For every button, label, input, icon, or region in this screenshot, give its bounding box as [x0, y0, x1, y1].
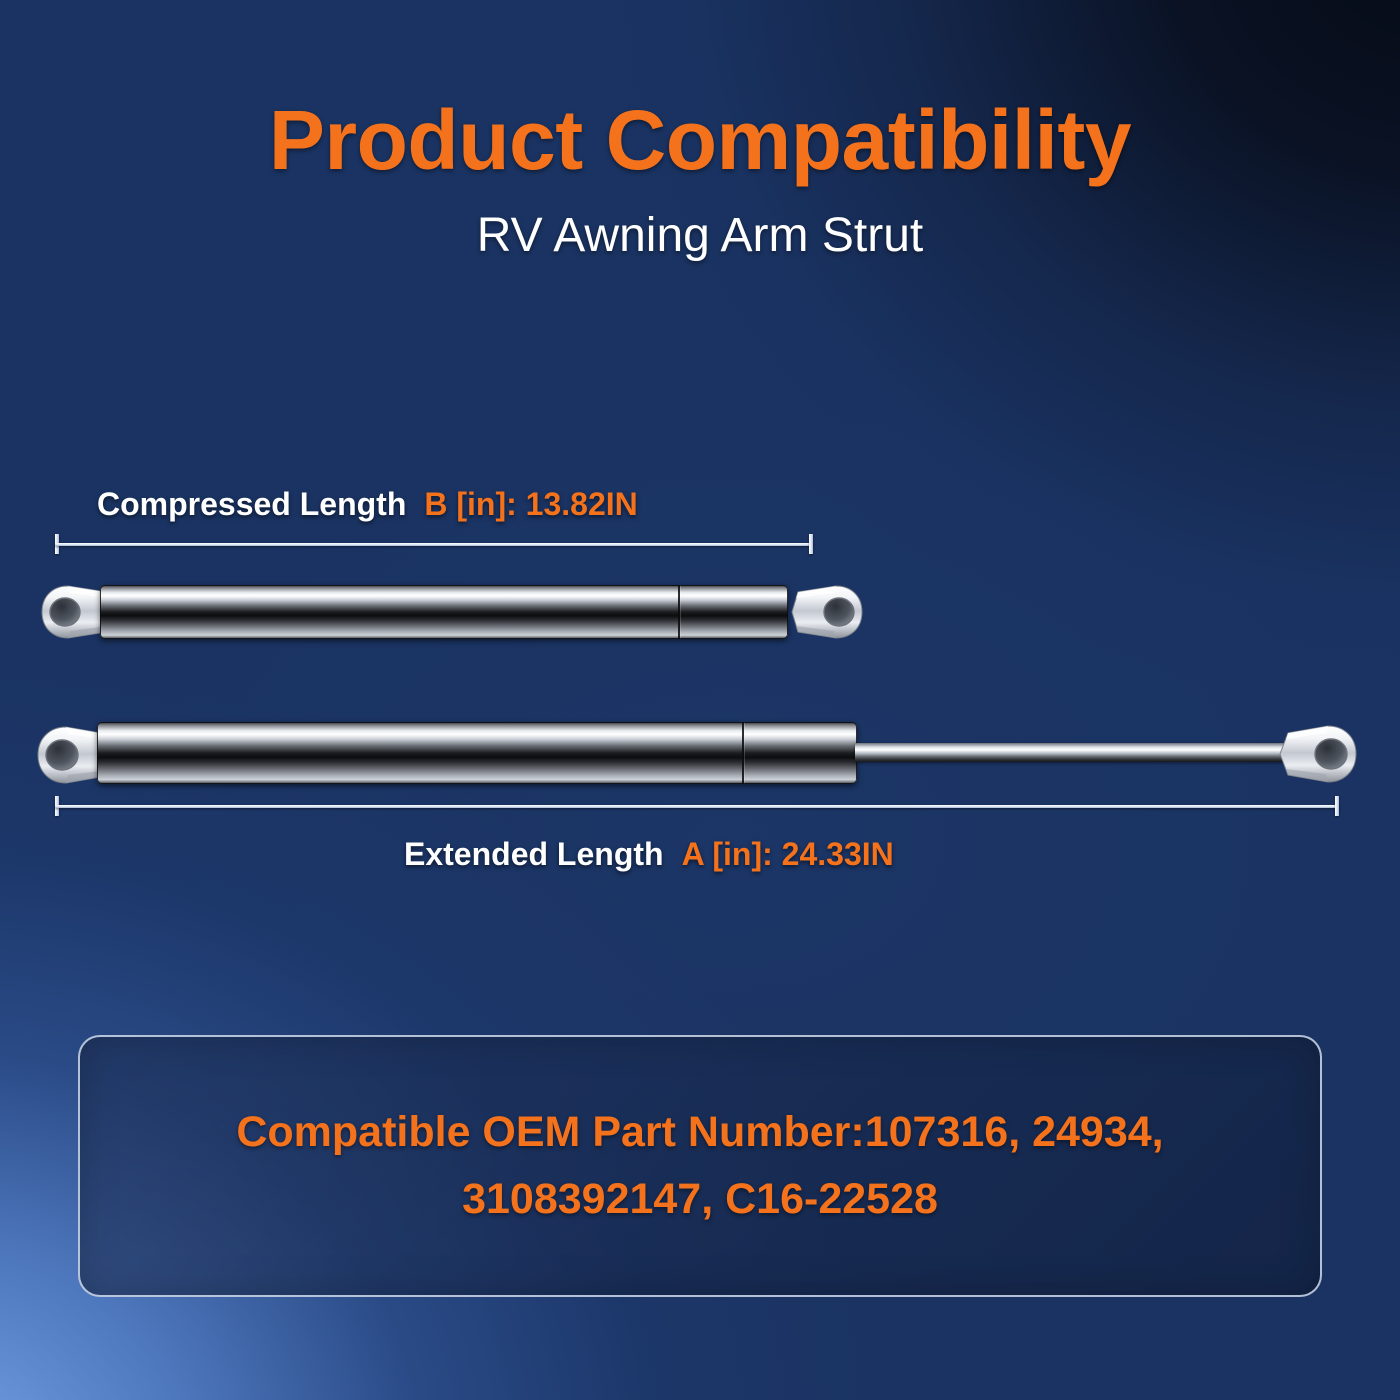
dimension-tick-right-icon: [1335, 796, 1339, 816]
extended-length-name: Extended Length: [404, 836, 664, 872]
oem-part-number-text: Compatible OEM Part Number:107316, 24934…: [80, 1099, 1320, 1232]
eyelet-end-fitting-icon: [1268, 722, 1368, 786]
compressed-length-label: Compressed LengthB [in]: 13.82IN: [97, 486, 638, 523]
header: Product Compatibility RV Awning Arm Stru…: [0, 96, 1400, 263]
extended-dimension-line: [55, 796, 1339, 816]
page-title: Product Compatibility: [0, 96, 1400, 184]
gas-strut-cylinder-icon: [97, 722, 857, 784]
compressed-length-value: B [in]: 13.82IN: [424, 486, 637, 522]
dimension-tick-right-icon: [809, 534, 813, 554]
extended-length-value: A [in]: 24.33IN: [682, 836, 894, 872]
dimension-bar: [55, 805, 1339, 808]
gas-strut-extended: [0, 705, 1400, 805]
gas-strut-compressed: [0, 565, 900, 660]
cylinder-seam: [742, 722, 744, 784]
product-compatibility-infographic: Product Compatibility RV Awning Arm Stru…: [0, 0, 1400, 1400]
gas-strut-cylinder-icon: [100, 585, 788, 639]
eyelet-end-fitting-icon: [780, 582, 870, 642]
compressed-dimension-line: [55, 534, 813, 554]
cylinder-seam: [678, 585, 680, 639]
piston-rod-icon: [855, 743, 1285, 762]
dimension-bar: [55, 543, 813, 546]
compressed-length-name: Compressed Length: [97, 486, 406, 522]
extended-length-label: Extended LengthA [in]: 24.33IN: [404, 836, 894, 873]
page-subtitle: RV Awning Arm Strut: [0, 210, 1400, 263]
oem-part-number-box: Compatible OEM Part Number:107316, 24934…: [78, 1035, 1322, 1297]
